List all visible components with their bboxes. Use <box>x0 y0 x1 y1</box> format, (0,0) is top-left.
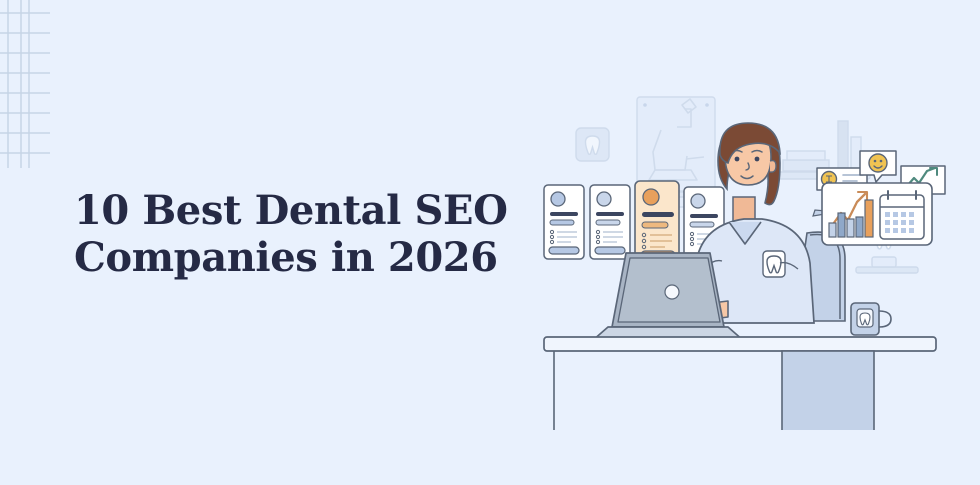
bottom-left-grid <box>0 395 260 485</box>
desk <box>544 337 936 430</box>
analytics-card <box>822 183 932 245</box>
resume-card-2 <box>590 185 630 259</box>
page-title-line-1: 10 Best Dental SEO <box>74 188 474 235</box>
calendar-icon <box>880 191 924 239</box>
shelf-item-bar-chart <box>838 121 861 171</box>
page-title: 10 Best Dental SEO Companies in 2026 <box>74 188 474 282</box>
resume-card-3 <box>635 181 679 263</box>
page-title-line-2: Companies in 2026 <box>74 235 474 282</box>
mug-tooth-logo <box>851 303 891 335</box>
hero-illustration: .ln{fill:none;stroke:#5a6678;stroke-widt… <box>520 55 980 430</box>
top-left-grid <box>0 0 60 170</box>
resume-card-1 <box>544 185 584 259</box>
tooth-badge-on-scrubs <box>763 251 785 277</box>
banner-root: 10 Best Dental SEO Companies in 2026 .ln… <box>0 0 980 485</box>
wall-tile-tooth-icon <box>576 128 609 161</box>
floating-analytics-panel <box>813 151 945 245</box>
